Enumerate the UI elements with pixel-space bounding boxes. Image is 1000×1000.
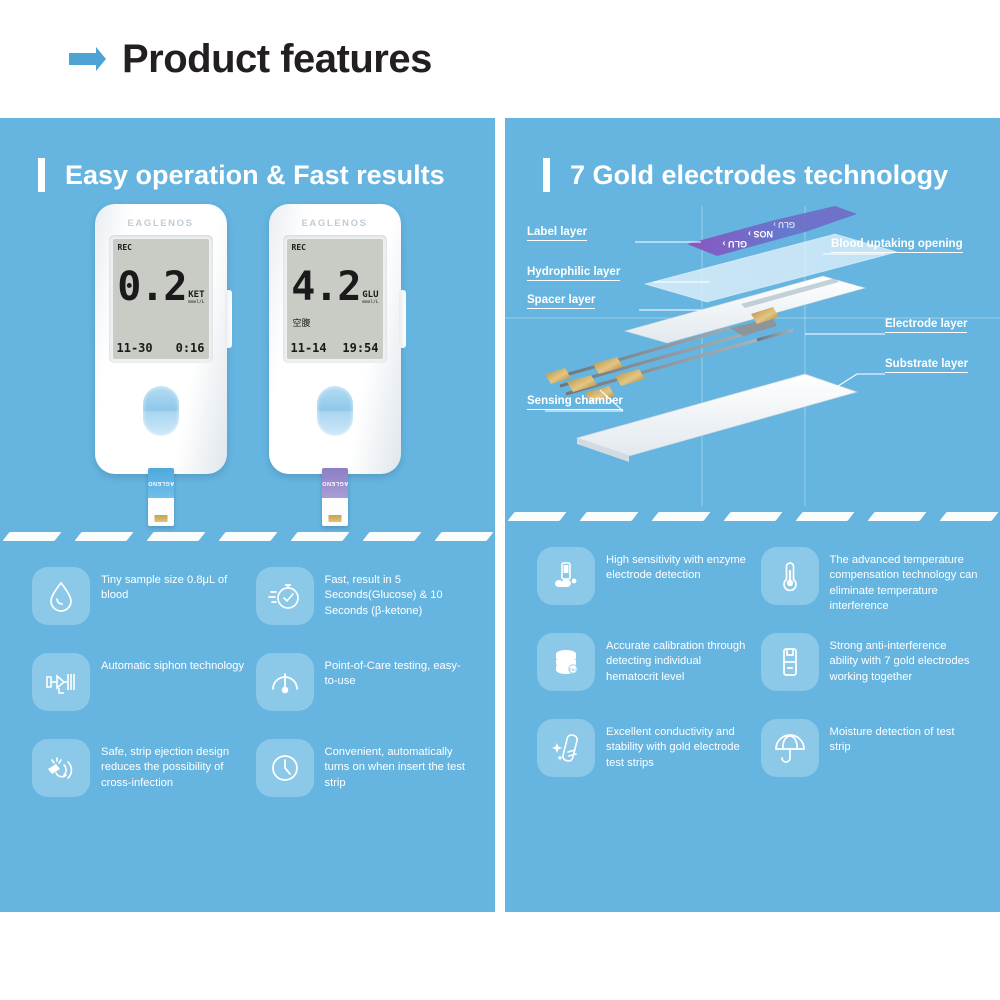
lcd-unit-block: KET mmol/L — [188, 291, 204, 305]
feature-item: Excellent conductivity and stability wit… — [537, 719, 755, 797]
panel-gold-electrodes: 7 Gold electrodes technology — [505, 118, 1000, 912]
meter-screen-frame: REC 4.2 GLU mmol/L 空腹 11-14 19:54 — [283, 235, 387, 363]
strip-gold-contacts — [328, 515, 341, 522]
feature-item: Safe, strip ejection design reduces the … — [32, 739, 250, 817]
page-title: Product features — [122, 37, 432, 82]
diagram-label-sensing-chamber: Sensing chamber — [527, 395, 623, 410]
lcd-date: 11-30 — [117, 341, 153, 355]
feature-text: The advanced temperature compensation te… — [830, 547, 979, 615]
stripe — [651, 512, 710, 521]
meter-main-button[interactable] — [317, 386, 353, 436]
svg-text:NOS ›: NOS › — [748, 229, 773, 239]
meter-brand: EAGLENOS — [269, 218, 401, 229]
test-strip-glucose: EAGLENOS — [322, 468, 348, 526]
feature-item: Automatic siphon technology — [32, 653, 250, 731]
strip-band: EAGLENOS — [322, 468, 348, 498]
stripe — [939, 512, 998, 521]
lcd-reading: 0.2 — [117, 267, 186, 307]
meter-brand: EAGLENOS — [95, 218, 227, 229]
feature-item: Fast, result in 5 Seconds(Glucose) & 10 … — [256, 567, 474, 645]
feature-text: Point-of-Care testing, easy-to-use — [325, 653, 474, 690]
strip-brand-label: EAGLENOS — [322, 468, 348, 498]
lcd-unit: KET — [188, 291, 204, 300]
umbrella-icon — [761, 719, 819, 777]
lcd-unit: GLU — [362, 291, 378, 300]
lcd-reading: 4.2 — [291, 267, 360, 307]
shield-strip-icon — [761, 633, 819, 691]
gauge-icon — [256, 653, 314, 711]
stripe — [795, 512, 854, 521]
feature-text: Automatic siphon technology — [101, 653, 244, 674]
lcd-datetime: 11-14 19:54 — [291, 341, 379, 355]
diagram-label-hydrophilic-layer: Hydrophilic layer — [527, 266, 620, 281]
meter-glucose: EAGLENOS REC 4.2 GLU mmol/L 空腹 11-14 — [269, 204, 401, 474]
thermometer-icon — [761, 547, 819, 605]
panel-left-header: Easy operation & Fast results — [0, 118, 495, 192]
stripe — [579, 512, 638, 521]
lcd-date: 11-14 — [291, 341, 327, 355]
page-header: Product features — [0, 0, 1000, 118]
stripe — [723, 512, 782, 521]
divider-stripes — [505, 512, 1000, 521]
arrow-right-icon — [66, 44, 108, 74]
feature-text: Tiny sample size 0.8μL of blood — [101, 567, 250, 604]
meters-group: EAGLENOS REC 0.2 KET mmol/L 11-30 — [0, 204, 495, 474]
lcd-unit-sub: mmol/L — [188, 300, 204, 305]
stripe — [362, 532, 421, 541]
lcd-datetime: 11-30 0:16 — [117, 341, 205, 355]
lcd-time: 0:16 — [176, 341, 205, 355]
siphon-icon — [32, 653, 90, 711]
feature-text: Strong anti-interference ability with 7 … — [830, 633, 979, 685]
feature-item: Strong anti-interference ability with 7 … — [761, 633, 979, 711]
feature-text: Fast, result in 5 Seconds(Glucose) & 10 … — [325, 567, 474, 619]
lcd-rec-label: REC — [292, 243, 306, 252]
feature-grid-right: High sensitivity with enzyme electrode d… — [505, 521, 1000, 797]
feature-item: The advanced temperature compensation te… — [761, 547, 979, 625]
meter-side-button[interactable] — [225, 290, 232, 348]
strip-gold-contacts — [154, 515, 167, 522]
meter-lcd: REC 4.2 GLU mmol/L 空腹 11-14 19:54 — [287, 239, 383, 359]
blood-drop-icon — [32, 567, 90, 625]
svg-text:RBC: RBC — [569, 667, 578, 672]
lcd-unit-sub: mmol/L — [362, 300, 378, 305]
feature-item: Point-of-Care testing, easy-to-use — [256, 653, 474, 731]
feature-grid-left: Tiny sample size 0.8μL of blood Fast, re… — [0, 541, 495, 817]
feature-text: High sensitivity with enzyme electrode d… — [606, 547, 755, 584]
diagram-label-spacer-layer: Spacer layer — [527, 294, 595, 309]
stripe — [146, 532, 205, 541]
feature-item: Convenient, automatically turns on when … — [256, 739, 474, 817]
meter-lcd: REC 0.2 KET mmol/L 11-30 0:16 — [113, 239, 209, 359]
panel-right-header: 7 Gold electrodes technology — [505, 118, 1000, 192]
stripe — [507, 512, 566, 521]
feature-text: Excellent conductivity and stability wit… — [606, 719, 755, 771]
meter-screen-frame: REC 0.2 KET mmol/L 11-30 0:16 — [109, 235, 213, 363]
feature-text: Moisture detection of test strip — [830, 719, 979, 756]
panel-left-title: Easy operation & Fast results — [65, 160, 445, 191]
lcd-rec-label: REC — [118, 243, 132, 252]
feature-text: Convenient, automatically turns on when … — [325, 739, 474, 791]
stopwatch-icon — [256, 567, 314, 625]
svg-text:GLU ›: GLU › — [723, 239, 748, 249]
diagram-label-blood-uptaking-opening: Blood uptaking opening — [831, 238, 963, 253]
title-accent-bar — [38, 158, 45, 192]
clock-icon — [256, 739, 314, 797]
test-strip-ketone: EAGLENOS — [148, 468, 174, 526]
svg-text:GLU ›: GLU › — [773, 220, 795, 229]
feature-item: RBC Accurate calibration through detecti… — [537, 633, 755, 711]
title-accent-bar — [543, 158, 550, 192]
stripe — [2, 532, 61, 541]
stripe — [74, 532, 133, 541]
panel-easy-operation: Easy operation & Fast results EAGLENOS R… — [0, 118, 495, 912]
strip-droplet-icon — [537, 547, 595, 605]
panel-right-title: 7 Gold electrodes technology — [570, 160, 948, 191]
strip-brand-label: EAGLENOS — [148, 468, 174, 498]
lcd-unit-block: GLU mmol/L — [362, 291, 378, 305]
stripe — [867, 512, 926, 521]
feature-text: Safe, strip ejection design reduces the … — [101, 739, 250, 791]
meter-body: EAGLENOS REC 4.2 GLU mmol/L 空腹 11-14 — [269, 204, 401, 474]
lcd-tag: 空腹 — [293, 316, 311, 329]
stripe — [290, 532, 349, 541]
meter-ketone: EAGLENOS REC 0.2 KET mmol/L 11-30 — [95, 204, 227, 474]
panels-container: Easy operation & Fast results EAGLENOS R… — [0, 118, 1000, 912]
meter-side-button[interactable] — [399, 290, 406, 348]
strip-eject-hand-icon — [32, 739, 90, 797]
stripe — [218, 532, 277, 541]
feature-item: High sensitivity with enzyme electrode d… — [537, 547, 755, 625]
strip-band: EAGLENOS — [148, 468, 174, 498]
blood-cells-stack-icon: RBC — [537, 633, 595, 691]
diagram-label-label-layer: Label layer — [527, 226, 587, 241]
feature-text: Accurate calibration through detecting i… — [606, 633, 755, 685]
meter-body: EAGLENOS REC 0.2 KET mmol/L 11-30 — [95, 204, 227, 474]
exploded-strip-diagram: GLU › NOS › GLU › — [505, 206, 1000, 506]
lcd-time: 19:54 — [342, 341, 378, 355]
divider-stripes — [0, 532, 495, 541]
feature-item: Tiny sample size 0.8μL of blood — [32, 567, 250, 645]
panel-divider — [495, 118, 505, 912]
diagram-label-electrode-layer: Electrode layer — [885, 318, 967, 333]
meter-main-button[interactable] — [143, 386, 179, 436]
stripe — [434, 532, 493, 541]
sparkle-strip-icon — [537, 719, 595, 777]
diagram-label-substrate-layer: Substrate layer — [885, 358, 968, 373]
feature-item: Moisture detection of test strip — [761, 719, 979, 797]
